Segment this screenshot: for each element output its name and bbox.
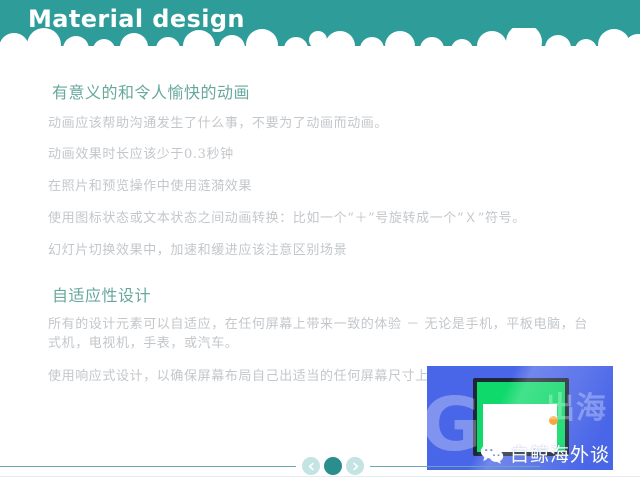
section-heading-adaptive: 自适应性设计 xyxy=(0,282,640,306)
chevron-left-icon xyxy=(307,462,316,471)
watermark-glyph-icon: G xyxy=(427,388,482,462)
pager-controls xyxy=(300,457,366,475)
slide-content: 有意义的和令人愉快的动画 动画应该帮助沟通发生了什么事，不要为了动画而动画。 动… xyxy=(0,58,640,386)
chevron-right-icon xyxy=(351,462,360,471)
body-line: 幻灯片切换效果中，加速和缓进应该注意区别场景 xyxy=(0,239,640,258)
body-line: 在照片和预览操作中使用涟漪效果 xyxy=(0,175,640,194)
watermark-text: 白鲸海外谈 xyxy=(510,440,610,467)
active-page-dot[interactable] xyxy=(324,457,342,475)
body-line: 使用图标状态或文本状态之间动画转换：比如一个“＋”号旋转成一个“Ｘ”符号。 xyxy=(0,207,640,226)
brand-watermark: 白鲸海外谈 xyxy=(480,440,610,467)
cloud-scallop-divider xyxy=(0,28,640,60)
wechat-icon xyxy=(480,443,504,464)
body-line: 动画应该帮助沟通发生了什么事，不要为了动画而动画。 xyxy=(0,112,640,131)
section-heading-animation: 有意义的和令人愉快的动画 xyxy=(0,79,640,103)
body-line: 动画效果时长应该少于0.3秒钟 xyxy=(0,143,640,162)
next-page-button[interactable] xyxy=(346,457,364,475)
prev-page-button[interactable] xyxy=(302,457,320,475)
body-paragraph: 所有的设计元素可以自适应，在任何屏幕上带来一致的体验 － 无论是手机，平板电脑，… xyxy=(0,315,640,353)
pager-rule-left xyxy=(0,466,296,467)
watermark-glyph-cn: 出海 xyxy=(545,392,607,426)
